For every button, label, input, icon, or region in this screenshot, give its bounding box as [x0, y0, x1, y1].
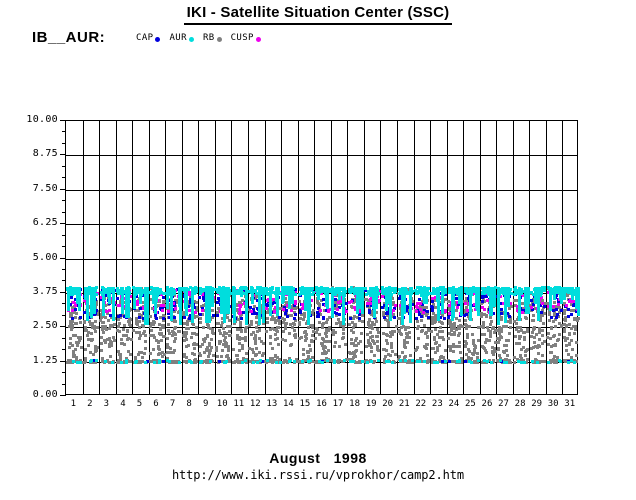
- data-point: [250, 310, 253, 313]
- data-point: [556, 313, 559, 316]
- data-point: [349, 317, 352, 320]
- data-point: [497, 347, 500, 350]
- data-point: [408, 336, 411, 339]
- data-point: [455, 345, 458, 348]
- data-point: [241, 347, 244, 350]
- data-point: [302, 353, 305, 356]
- data-point: [200, 360, 203, 363]
- data-point: [482, 323, 485, 326]
- data-point: [152, 323, 155, 326]
- data-point: [439, 326, 442, 329]
- data-point: [76, 344, 79, 347]
- data-point: [408, 331, 411, 334]
- data-point: [324, 352, 327, 355]
- data-point: [157, 353, 160, 356]
- data-point: [274, 354, 277, 357]
- data-point: [411, 359, 414, 362]
- data-point: [228, 319, 231, 322]
- data-point: [226, 354, 229, 357]
- data-point: [307, 351, 310, 354]
- data-point: [187, 327, 190, 330]
- data-point: [543, 286, 546, 289]
- data-point: [371, 335, 374, 338]
- data-point: [127, 315, 130, 318]
- data-point: [500, 330, 503, 333]
- data-point: [373, 360, 376, 363]
- data-point: [293, 317, 296, 320]
- data-point: [387, 353, 390, 356]
- data-point: [268, 360, 271, 363]
- data-point: [293, 323, 296, 326]
- data-point: [228, 360, 231, 363]
- data-point: [74, 322, 77, 325]
- data-point: [229, 325, 232, 328]
- data-point: [497, 341, 500, 344]
- data-point: [505, 325, 508, 328]
- data-point: [466, 333, 469, 336]
- data-point: [152, 301, 155, 304]
- data-point: [294, 307, 297, 310]
- data-point: [531, 319, 534, 322]
- data-point: [477, 359, 480, 362]
- data-point: [559, 360, 562, 363]
- data-point: [371, 321, 374, 324]
- data-point: [465, 313, 468, 316]
- data-point: [471, 352, 474, 355]
- data-point: [173, 327, 176, 330]
- data-point: [419, 302, 422, 305]
- legend-swatch-icon: [217, 37, 222, 42]
- data-point: [118, 353, 121, 356]
- data-point: [537, 318, 540, 321]
- data-point: [503, 351, 506, 354]
- data-point: [162, 304, 165, 307]
- data-point: [302, 348, 305, 351]
- data-point: [486, 326, 489, 329]
- data-point: [342, 322, 345, 325]
- data-point: [111, 324, 114, 327]
- data-point: [100, 349, 103, 352]
- legend-item-cusp: CUSP: [231, 33, 261, 43]
- data-point: [134, 309, 137, 312]
- data-point: [161, 351, 164, 354]
- data-point: [317, 297, 320, 300]
- scatter-points: [66, 121, 577, 394]
- data-point: [342, 328, 345, 331]
- data-point: [371, 339, 374, 342]
- data-point: [108, 309, 111, 312]
- data-point: [496, 337, 499, 340]
- data-point: [95, 359, 98, 362]
- data-point: [563, 323, 566, 326]
- data-point: [464, 323, 467, 326]
- data-point: [293, 329, 296, 332]
- data-point: [366, 333, 369, 336]
- data-point: [507, 339, 510, 342]
- data-point: [244, 339, 247, 342]
- data-point: [120, 338, 123, 341]
- data-point: [274, 333, 277, 336]
- data-point: [260, 340, 263, 343]
- data-point: [158, 299, 161, 302]
- data-point: [375, 335, 378, 338]
- data-point: [358, 317, 361, 320]
- data-point: [348, 301, 351, 304]
- data-point: [310, 340, 313, 343]
- data-point: [93, 327, 96, 330]
- data-point: [212, 332, 215, 335]
- data-point: [458, 360, 461, 363]
- data-point: [309, 359, 312, 362]
- data-point: [571, 348, 574, 351]
- data-point: [241, 361, 244, 364]
- data-point: [162, 296, 165, 299]
- data-point: [286, 315, 289, 318]
- data-point: [359, 340, 362, 343]
- data-point: [258, 328, 261, 331]
- legend-label: RB: [203, 33, 215, 43]
- data-point: [269, 313, 272, 316]
- data-point: [154, 311, 157, 314]
- data-point: [119, 314, 122, 317]
- data-point: [183, 331, 186, 334]
- data-point: [74, 316, 77, 319]
- data-point: [195, 360, 198, 363]
- data-point: [239, 328, 242, 331]
- data-point: [205, 361, 208, 364]
- data-point: [517, 330, 520, 333]
- data-point: [409, 354, 412, 357]
- data-point: [553, 355, 556, 358]
- data-point: [419, 308, 422, 311]
- data-point: [508, 307, 511, 310]
- data-point: [514, 289, 517, 292]
- data-point: [530, 306, 533, 309]
- data-point: [486, 360, 489, 363]
- data-point: [325, 297, 328, 300]
- data-point: [333, 361, 336, 364]
- data-point: [158, 361, 161, 364]
- data-point: [352, 360, 355, 363]
- data-point: [482, 326, 485, 329]
- data-point: [149, 352, 152, 355]
- data-point: [554, 344, 557, 347]
- data-point: [485, 339, 488, 342]
- data-point: [464, 360, 467, 363]
- data-point: [431, 309, 434, 312]
- data-point: [262, 320, 265, 323]
- data-point: [354, 324, 357, 327]
- data-point: [342, 332, 345, 335]
- data-point: [406, 341, 409, 344]
- data-point: [333, 345, 336, 348]
- legend-swatch-icon: [256, 37, 261, 42]
- data-point: [90, 315, 93, 318]
- data-point: [269, 342, 272, 345]
- legend-label: CAP: [136, 33, 153, 43]
- data-point: [218, 329, 221, 332]
- data-point: [291, 301, 294, 304]
- data-point: [160, 339, 163, 342]
- data-point: [513, 320, 516, 323]
- data-point: [224, 345, 227, 348]
- data-point: [477, 339, 480, 342]
- data-point: [90, 332, 93, 335]
- data-point: [567, 353, 570, 356]
- data-point: [481, 292, 484, 295]
- data-point: [304, 308, 307, 311]
- data-point: [116, 290, 119, 293]
- data-point: [506, 354, 509, 357]
- data-point: [449, 349, 452, 352]
- data-point: [549, 308, 552, 311]
- data-point: [452, 350, 455, 353]
- data-point: [322, 316, 325, 319]
- data-point: [161, 309, 164, 312]
- data-point: [262, 342, 265, 345]
- data-point: [323, 345, 326, 348]
- data-point: [276, 313, 279, 316]
- data-point: [223, 361, 226, 364]
- data-point: [558, 333, 561, 336]
- data-point: [352, 317, 355, 320]
- data-point: [203, 340, 206, 343]
- data-point: [215, 349, 218, 352]
- data-point: [326, 306, 329, 309]
- data-point: [489, 316, 492, 319]
- data-point: [541, 302, 544, 305]
- data-point: [233, 320, 236, 323]
- data-point: [448, 360, 451, 363]
- data-point: [238, 336, 241, 339]
- data-point: [535, 333, 538, 336]
- data-point: [166, 351, 169, 354]
- data-point: [251, 301, 254, 304]
- data-point: [238, 308, 241, 311]
- data-point: [471, 333, 474, 336]
- data-point: [74, 334, 77, 337]
- data-point: [274, 338, 277, 341]
- data-point: [167, 323, 170, 326]
- data-point: [283, 360, 286, 363]
- data-point: [373, 315, 376, 318]
- data-point: [455, 317, 458, 320]
- data-point: [430, 330, 433, 333]
- data-point: [101, 321, 104, 324]
- data-point: [166, 337, 169, 340]
- data-point: [93, 311, 96, 314]
- data-point: [207, 355, 210, 358]
- data-point: [102, 313, 105, 316]
- data-point: [513, 293, 516, 296]
- data-point: [415, 305, 418, 308]
- data-point: [324, 332, 327, 335]
- data-point: [193, 347, 196, 350]
- data-point: [459, 351, 462, 354]
- data-point: [490, 361, 493, 364]
- data-point: [218, 360, 221, 363]
- data-point: [174, 360, 177, 363]
- data-point: [201, 288, 204, 291]
- data-point: [523, 361, 526, 364]
- data-point: [227, 311, 230, 314]
- data-point: [449, 324, 452, 327]
- data-point: [416, 292, 419, 295]
- data-point: [533, 326, 536, 329]
- data-point: [483, 347, 486, 350]
- data-point: [187, 344, 190, 347]
- data-point: [240, 317, 243, 320]
- data-point: [309, 324, 312, 327]
- data-point: [129, 353, 132, 356]
- data-point: [258, 322, 261, 325]
- data-point: [89, 360, 92, 363]
- data-point: [552, 309, 555, 312]
- data-point: [222, 327, 225, 330]
- data-point: [464, 319, 467, 322]
- data-point: [89, 323, 92, 326]
- data-point: [456, 306, 459, 309]
- data-point: [258, 351, 261, 354]
- data-point: [162, 317, 165, 320]
- data-point: [437, 318, 440, 321]
- data-point: [415, 310, 418, 313]
- data-point: [338, 297, 341, 300]
- data-point: [423, 360, 426, 363]
- data-point: [520, 329, 523, 332]
- data-point: [546, 336, 549, 339]
- data-point: [282, 330, 285, 333]
- data-point: [431, 300, 434, 303]
- data-point: [266, 359, 269, 362]
- data-point: [124, 334, 127, 337]
- data-point: [152, 348, 155, 351]
- data-point: [321, 352, 324, 355]
- data-point: [327, 349, 330, 352]
- data-point: [426, 360, 429, 363]
- data-point: [467, 348, 470, 351]
- data-point: [162, 300, 165, 303]
- data-point: [457, 325, 460, 328]
- data-point: [477, 326, 480, 329]
- data-point: [274, 321, 277, 324]
- data-point: [524, 316, 527, 319]
- data-point: [113, 339, 116, 342]
- data-point: [83, 321, 86, 324]
- y-tick-label: 10.00: [2, 114, 58, 125]
- data-point: [504, 320, 507, 323]
- data-point: [407, 326, 410, 329]
- data-point: [542, 322, 545, 325]
- data-point: [209, 360, 212, 363]
- data-point: [455, 297, 458, 300]
- data-point: [129, 360, 132, 363]
- data-point: [157, 340, 160, 343]
- page-title-text: IKI - Satellite Situation Center (SSC): [184, 4, 453, 25]
- data-point: [337, 318, 340, 321]
- data-point: [136, 323, 139, 326]
- data-point: [278, 322, 281, 325]
- data-point: [238, 312, 241, 315]
- data-point: [336, 308, 339, 311]
- data-point: [174, 307, 177, 310]
- data-point: [144, 340, 147, 343]
- data-point: [550, 359, 553, 362]
- data-point: [140, 351, 143, 354]
- legend-swatch-icon: [155, 37, 160, 42]
- data-point: [331, 315, 334, 318]
- data-point: [173, 320, 176, 323]
- data-point: [532, 314, 535, 317]
- data-point: [233, 361, 236, 364]
- data-point: [101, 328, 104, 331]
- data-point: [368, 342, 371, 345]
- data-point: [476, 308, 479, 311]
- data-point: [468, 360, 471, 363]
- data-point: [84, 348, 87, 351]
- data-point: [541, 329, 544, 332]
- data-point: [185, 313, 188, 316]
- data-point: [434, 351, 437, 354]
- data-point: [118, 330, 121, 333]
- chart-legend: CAPAURRBCUSP: [136, 33, 261, 43]
- data-point: [78, 339, 81, 342]
- data-point: [539, 294, 542, 297]
- data-point: [489, 330, 492, 333]
- data-point: [220, 355, 223, 358]
- data-point: [465, 342, 468, 345]
- data-point: [166, 359, 169, 362]
- data-point: [284, 339, 287, 342]
- data-point: [481, 296, 484, 299]
- data-point: [441, 330, 444, 333]
- data-point: [552, 305, 555, 308]
- data-point: [109, 355, 112, 358]
- data-point: [469, 318, 472, 321]
- data-point: [426, 336, 429, 339]
- data-point: [433, 336, 436, 339]
- data-point: [139, 301, 142, 304]
- data-point: [554, 325, 557, 328]
- data-point: [526, 328, 529, 331]
- data-point: [80, 346, 83, 349]
- data-point: [385, 333, 388, 336]
- data-point: [106, 338, 109, 341]
- data-point: [205, 348, 208, 351]
- data-point: [338, 345, 341, 348]
- data-point: [485, 351, 488, 354]
- data-point: [393, 316, 396, 319]
- data-point: [369, 294, 372, 297]
- data-point: [153, 361, 156, 364]
- data-point: [138, 331, 141, 334]
- data-point: [476, 352, 479, 355]
- data-point: [79, 316, 82, 319]
- data-point: [299, 287, 302, 290]
- data-point: [387, 321, 390, 324]
- data-point: [101, 360, 104, 363]
- data-point: [73, 354, 76, 357]
- data-point: [70, 296, 73, 299]
- data-point: [222, 334, 225, 337]
- data-point: [93, 313, 96, 316]
- data-point: [259, 359, 262, 362]
- data-point: [240, 294, 243, 297]
- data-point: [183, 322, 186, 325]
- data-point: [464, 302, 467, 305]
- data-point: [223, 320, 226, 323]
- data-point: [94, 330, 97, 333]
